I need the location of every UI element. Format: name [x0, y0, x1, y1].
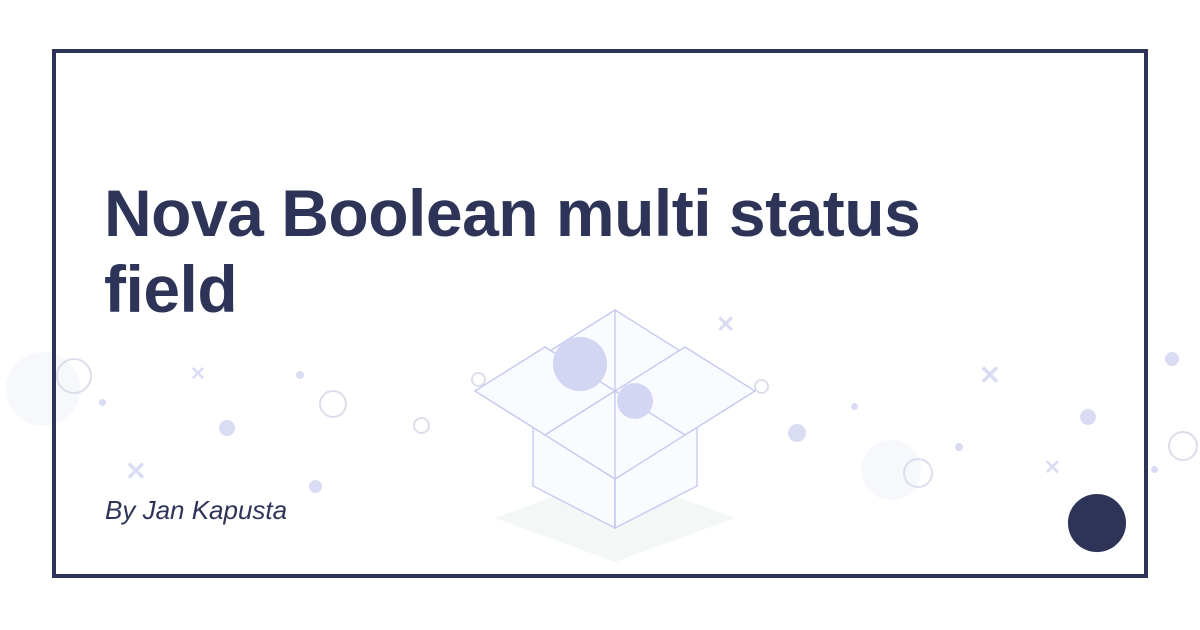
author-byline: By Jan Kapusta [105, 494, 287, 526]
spiral-logo [1066, 492, 1128, 554]
card-content: Nova Boolean multi status field By Jan K… [0, 0, 1200, 630]
spiral-logo-path [1068, 494, 1126, 552]
og-card: ✕✕✕✕✕ Nova Boolean multi status field B [0, 0, 1200, 630]
page-title: Nova Boolean multi status field [104, 175, 1024, 327]
